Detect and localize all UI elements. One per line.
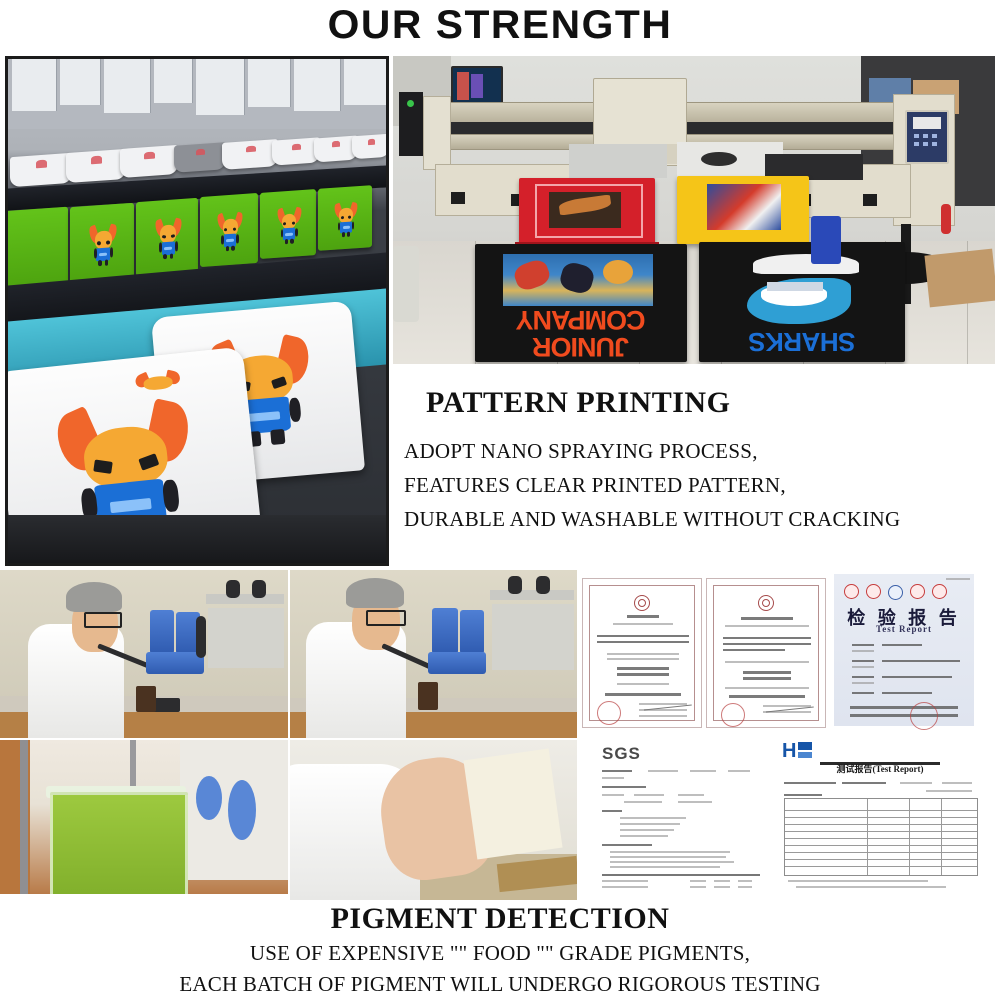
tablet-graphic — [457, 72, 469, 100]
photo-chemist-right — [290, 570, 577, 738]
platen-red-tshirt — [519, 178, 655, 244]
test-swatch-paper — [463, 749, 562, 860]
cardboard-box-floor — [924, 249, 995, 308]
pattern-line-1: ADOPT NANO SPRAYING PROCESS, — [404, 434, 996, 468]
sample-bottle — [136, 686, 156, 712]
bolt — [451, 192, 465, 204]
lab-photo-grid — [0, 570, 577, 900]
back-row-shirt — [10, 153, 72, 187]
control-panel-screen[interactable] — [905, 110, 949, 164]
back-row-shirt — [174, 142, 226, 173]
machine-base — [8, 515, 386, 563]
pattern-heading: PATTERN PRINTING — [426, 386, 996, 420]
junior-company-print-text: JUNIORCOMPANY — [483, 306, 679, 360]
print-bed-object — [701, 152, 737, 166]
green-pallet — [136, 198, 198, 276]
green-pallet — [70, 203, 134, 283]
red-handle-tool — [941, 204, 951, 234]
sgs-logo: SGS — [602, 744, 641, 764]
photo-green-pigment-beaker — [0, 740, 288, 900]
beaker-green-liquid — [50, 792, 188, 900]
bolt — [863, 194, 877, 206]
pigment-heading: PIGMENT DETECTION — [0, 900, 1000, 938]
back-row-shirt — [120, 145, 178, 178]
platen-yellow-tshirt — [677, 176, 809, 244]
green-pallet — [200, 193, 258, 267]
certificate-h-test-report: H 测试报告(Test Report) — [776, 738, 984, 894]
certificates-grid: 检 验 报 告 Test Report SGS — [580, 572, 998, 900]
photo-chemist-left — [0, 570, 288, 738]
certificate-iso-cn — [582, 578, 702, 728]
pattern-line-2: FEATURES CLEAR PRINTED PATTERN, — [404, 468, 996, 502]
page-title: OUR STRENGTH — [0, 2, 1000, 48]
back-row-shirt — [222, 139, 278, 170]
platen-black-tshirt-junior: JUNIORCOMPANY — [475, 244, 687, 362]
certificate-iso-en — [706, 578, 826, 728]
photo-dtg-printer: JUNIORCOMPANY SHARKS — [393, 56, 995, 364]
print-bed-left — [569, 144, 667, 178]
photo-screen-printing-conveyor — [5, 56, 389, 566]
platen-black-tshirt-sharks: SHARKS — [699, 242, 905, 362]
tablet-graphic — [471, 74, 483, 98]
back-row-shirt — [272, 137, 320, 165]
pigment-line-1: USE OF EXPENSIVE "" FOOD "" GRADE PIGMEN… — [0, 938, 1000, 969]
certificate-inspection-report: 检 验 报 告 Test Report — [834, 574, 974, 726]
pattern-printing-text-block: PATTERN PRINTING ADOPT NANO SPRAYING PRO… — [404, 386, 996, 536]
left-tower — [423, 96, 451, 170]
sharks-print-text: SHARKS — [699, 326, 905, 357]
h-brand-logo: H — [782, 740, 796, 763]
back-row-shirt — [352, 134, 389, 160]
pattern-line-3: DURABLE AND WASHABLE WITHOUT CRACKING — [404, 502, 996, 536]
green-pallet — [5, 207, 68, 290]
sample-bottle — [418, 682, 438, 710]
photo-hand-with-swatch — [290, 740, 577, 900]
green-pallet — [318, 185, 372, 251]
report-title-en: Test Report — [834, 624, 974, 634]
bull-logo-small — [137, 370, 180, 402]
h-report-title: 测试报告(Test Report) — [816, 762, 944, 775]
test-results-table — [784, 798, 978, 876]
status-led — [407, 100, 414, 107]
white-bucket — [393, 246, 419, 322]
back-wall — [8, 59, 386, 129]
pigment-detection-text-block: PIGMENT DETECTION USE OF EXPENSIVE "" FO… — [0, 900, 1000, 1000]
back-row-shirt — [66, 149, 126, 183]
blue-ink-bottle — [811, 216, 841, 264]
certificate-sgs-report: SGS — [590, 738, 772, 894]
green-pallet — [260, 189, 316, 259]
pigment-line-2: EACH BATCH OF PIGMENT WILL UNDERGO RIGOR… — [0, 969, 1000, 1000]
